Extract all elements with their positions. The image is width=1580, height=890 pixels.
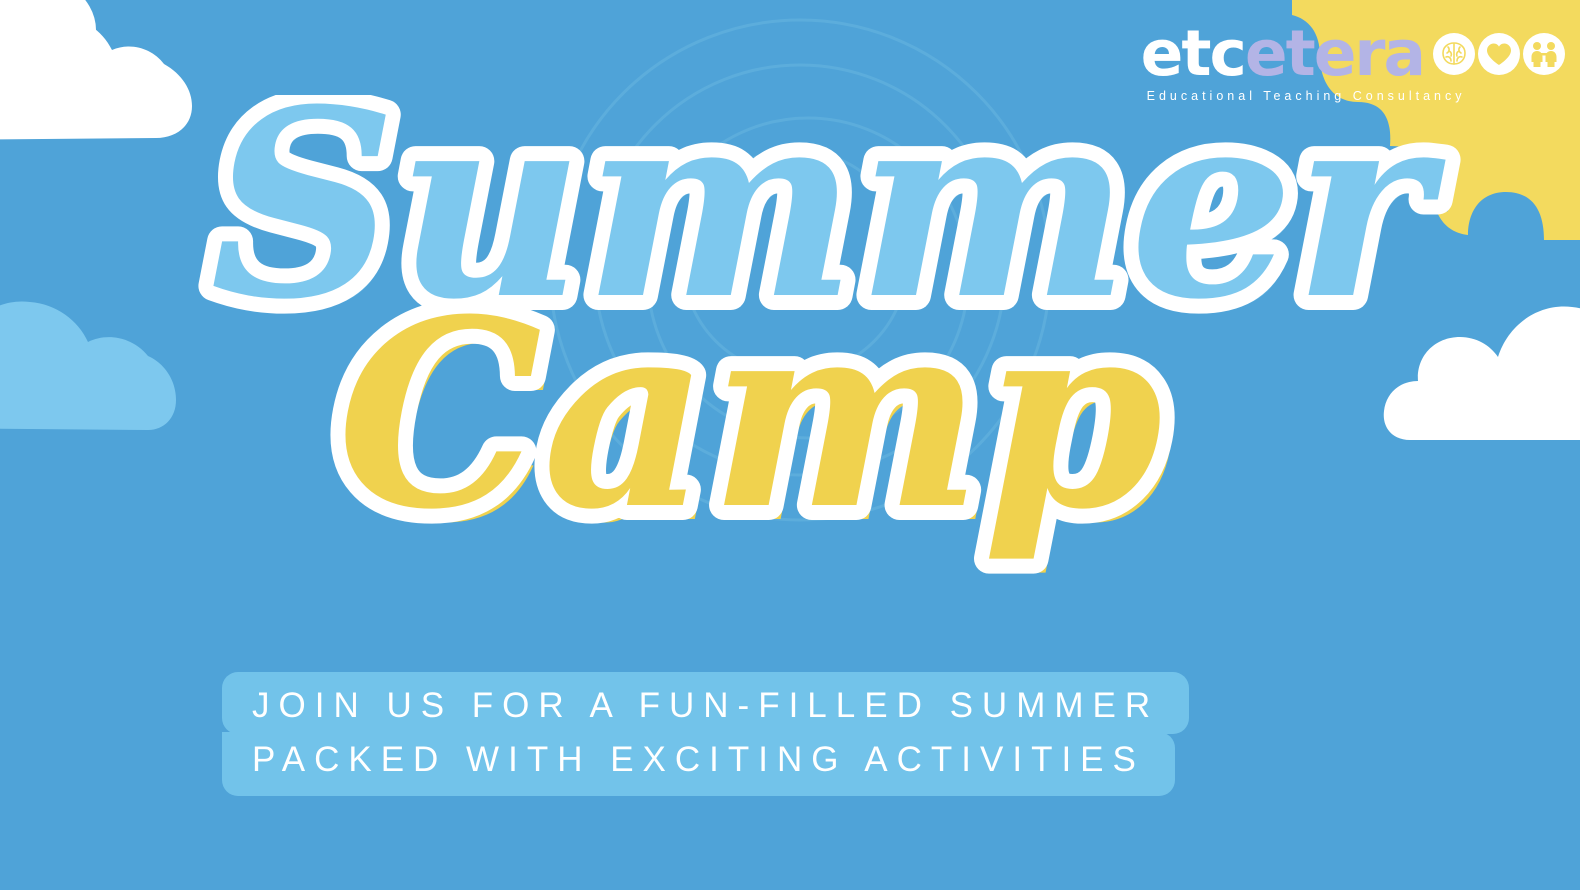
logo-word-etera: etera: [1245, 22, 1424, 85]
bottom-banner: JOIN US FOR A FUN-FILLED SUMMER PACKED W…: [222, 672, 1189, 796]
logo-wordmark-row: etc etera: [1141, 22, 1566, 85]
banner-line-1: JOIN US FOR A FUN-FILLED SUMMER: [222, 672, 1189, 734]
brain-icon: [1432, 32, 1476, 76]
logo-icon-group: [1432, 32, 1566, 76]
banner-line-2: PACKED WITH EXCITING ACTIVITIES: [222, 732, 1175, 796]
people-icon: [1522, 32, 1566, 76]
cloud-right: [1380, 275, 1580, 440]
cloud-top-left: [0, 0, 200, 140]
svg-text:Camp: Camp: [337, 263, 1163, 566]
concentric-rings-decoration: [540, 10, 1060, 530]
svg-text:Camp: Camp: [349, 277, 1175, 575]
etcetera-logo[interactable]: etc etera: [1141, 22, 1566, 103]
summer-camp-poster: etc etera: [0, 0, 1580, 890]
cloud-middle-left: [0, 280, 230, 430]
heart-icon: [1477, 32, 1521, 76]
logo-word-etc: etc: [1141, 22, 1245, 85]
svg-text:Camp: Camp: [337, 263, 1163, 566]
logo-tagline: Educational Teaching Consultancy: [1141, 89, 1566, 103]
headline-line-1: Summer Summer Summer: [210, 95, 1457, 368]
svg-text:Summer: Summer: [210, 95, 1447, 356]
svg-text:Summer: Summer: [210, 95, 1447, 356]
svg-text:Summer: Summer: [220, 95, 1457, 368]
headline-line-2: Camp Camp Camp: [337, 263, 1175, 575]
